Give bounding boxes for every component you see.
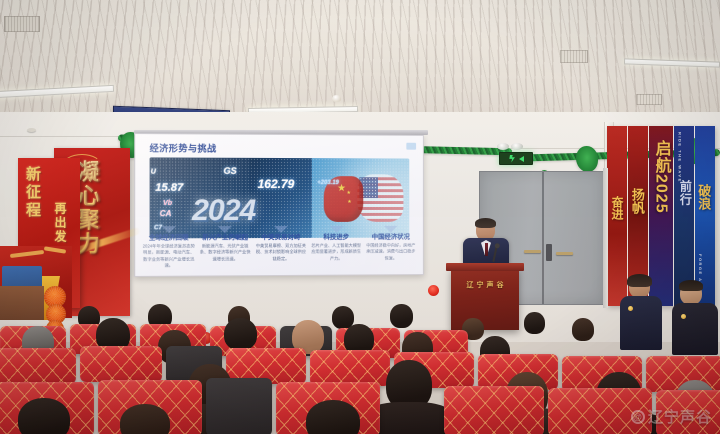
slide-title: 经济形势与挑战 [150, 141, 416, 155]
slide-column-heading: 全球经济回暖 [141, 234, 196, 241]
door-frame-right [603, 168, 608, 308]
left-banner-line-1: 新征程 [25, 166, 40, 220]
slide-column-1: 新兴产业的崛起 新能源汽车、光伏产业链条、数字经济等新兴产业快速增长迅速。 [198, 229, 252, 273]
audience-head-far-5 [390, 304, 413, 328]
emergency-exit-sign [499, 152, 533, 165]
garland-tuft-3 [576, 146, 598, 172]
presentation-slide: 经济形势与挑战 U 15.87 Vb CA C7 [135, 134, 423, 276]
ceiling [0, 0, 720, 122]
flower-corsage-icon [681, 314, 686, 319]
right-banner-strip-text: 奋进 [611, 196, 623, 220]
slide-column-body: 中国经济稳中向好，房地产承压减速，消费与出口稳步恢复。 [365, 243, 417, 262]
slide-year-graphic: 2024 [192, 196, 255, 226]
audience-head-far-8 [572, 318, 594, 341]
photo-scene: 经济形势与挑战 U 15.87 Vb CA C7 [0, 0, 720, 434]
podium-char-1: 宁 [477, 280, 484, 290]
slide-column-body: 中美贸易摩擦、双方加征关税、技术封锁影响全球供应链稳定。 [254, 243, 308, 262]
slide-column-heading: 中美贸易对峙 [254, 234, 308, 241]
seat-row2-1 [0, 348, 76, 384]
slide-column-heading: 科技进步 [310, 234, 363, 241]
podium-char-0: 辽 [467, 280, 474, 290]
slide-column-3: 科技进步 芯片产业、人工智能大模型应用显著进步，形成新质生产力。 [310, 229, 363, 273]
ceiling-vent-far-right [636, 94, 662, 105]
podium-char-2: 声 [487, 280, 494, 290]
audience-head-front-3 [306, 400, 360, 434]
right-banner-strip-text: 启航2025 [653, 140, 669, 214]
ticker-label-ca: CA [160, 209, 172, 218]
chevron-down-icon [274, 226, 288, 233]
slide-column-body: 芯片产业、人工智能大模型应用显著进步，形成新质生产力。 [310, 243, 363, 262]
podium-char-3: 谷 [497, 280, 504, 290]
flower-corsage-icon [628, 306, 633, 311]
ticker-label-u: U [151, 169, 156, 176]
ceiling-vent-right [560, 50, 588, 63]
seat-row1-6 [656, 390, 720, 434]
podium-top-ledge [446, 263, 524, 271]
door-center-seam [542, 172, 544, 304]
slide-column-0: 全球经济回暖 2024年年全球经济复苏态势明显，新能源、电动汽车、数字业务等新兴… [141, 229, 196, 274]
ticker-value-3: +203.19 [317, 180, 339, 186]
standing-person-left [620, 276, 662, 350]
audience-head-front-2 [120, 404, 170, 434]
standing-person-hair [679, 280, 703, 291]
ticker-symbol-1: GS [224, 166, 237, 176]
door-handle-left[interactable] [524, 250, 541, 253]
side-desk [0, 286, 44, 320]
ticker-value-2: 162.79 [258, 177, 295, 191]
audience-head-mid-4 [224, 318, 257, 350]
standing-person-right [672, 282, 718, 354]
standing-person-uniform [620, 296, 662, 350]
seat-row2-2 [80, 346, 162, 382]
podium-label: 辽 宁 声 谷 [451, 280, 519, 290]
slide-column-4: 中国经济状况 中国经济稳中向好，房地产承压减速，消费与出口稳步恢复。 [365, 229, 417, 273]
seat-row2-4 [310, 350, 390, 386]
right-banner-strip-eng: RIDE THE WAVE [677, 132, 682, 183]
ceiling-dome-fixture [332, 95, 341, 102]
right-banner-strip-4: 破浪 FORGE AHEAD [695, 126, 715, 306]
right-banner-strip-text: 破浪 [697, 184, 710, 210]
right-banner-strip-text: 前行 [677, 180, 694, 206]
chevron-down-icon [218, 226, 232, 233]
left-banner-line-2: 再出发 [54, 202, 66, 244]
chevron-down-icon [384, 226, 398, 233]
standing-person-uniform [672, 303, 718, 355]
standing-person-hair [627, 274, 652, 287]
usa-flag-fist-icon [357, 174, 403, 222]
ticker-value-1: 15.87 [155, 182, 183, 194]
audience-head-front-1 [18, 398, 70, 434]
slide-logo-icon [406, 143, 416, 150]
running-person-icon [509, 155, 517, 163]
seat-row1-5 [548, 388, 652, 434]
slide-column-body: 新能源汽车、光伏产业链条、数字经济等新兴产业快速增长迅速。 [198, 243, 252, 262]
ceiling-vent-left [4, 16, 40, 32]
speaker-podium: 辽 宁 声 谷 [451, 268, 519, 330]
right-banner-strip-text: 扬帆 [631, 188, 644, 214]
slide-column-body: 2024年年全球经济复苏态势明显，新能源、电动汽车、数字业务等新兴产业增长迅速。 [141, 243, 196, 269]
chevron-down-icon [162, 226, 176, 233]
slide-column-2: 中美贸易对峙 中美贸易摩擦、双方加征关税、技术封锁影响全球供应链稳定。 [254, 229, 308, 273]
ticker-label-vb: Vb [163, 200, 172, 207]
audience-head-far-7 [524, 312, 545, 334]
seat-row1-dark [206, 378, 272, 434]
chevron-down-icon [329, 226, 343, 233]
speaker-hair [475, 218, 496, 228]
projection-screen[interactable]: 经济形势与挑战 U 15.87 Vb CA C7 [134, 133, 424, 277]
door-handle-right[interactable] [556, 252, 573, 255]
slide-column-heading: 新兴产业的崛起 [198, 234, 252, 241]
ceiling-spotlight-pair [497, 143, 523, 150]
right-banner-strip-3: 前行 RIDE THE WAVE [674, 126, 694, 306]
slide-column-list: 全球经济回暖 2024年年全球经济复苏态势明显，新能源、电动汽车、数字业务等新兴… [141, 229, 417, 274]
slide-column-heading: 中国经济状况 [365, 234, 417, 241]
door-lock-icon[interactable] [546, 244, 552, 261]
exit-arrow-icon [519, 156, 524, 162]
ceiling-strip-pattern-cross [0, 0, 720, 122]
speaker-tie [485, 243, 489, 256]
seat-row1-4 [444, 386, 544, 434]
smoke-detector-icon [27, 128, 36, 132]
red-ball-decor-3 [428, 285, 439, 296]
